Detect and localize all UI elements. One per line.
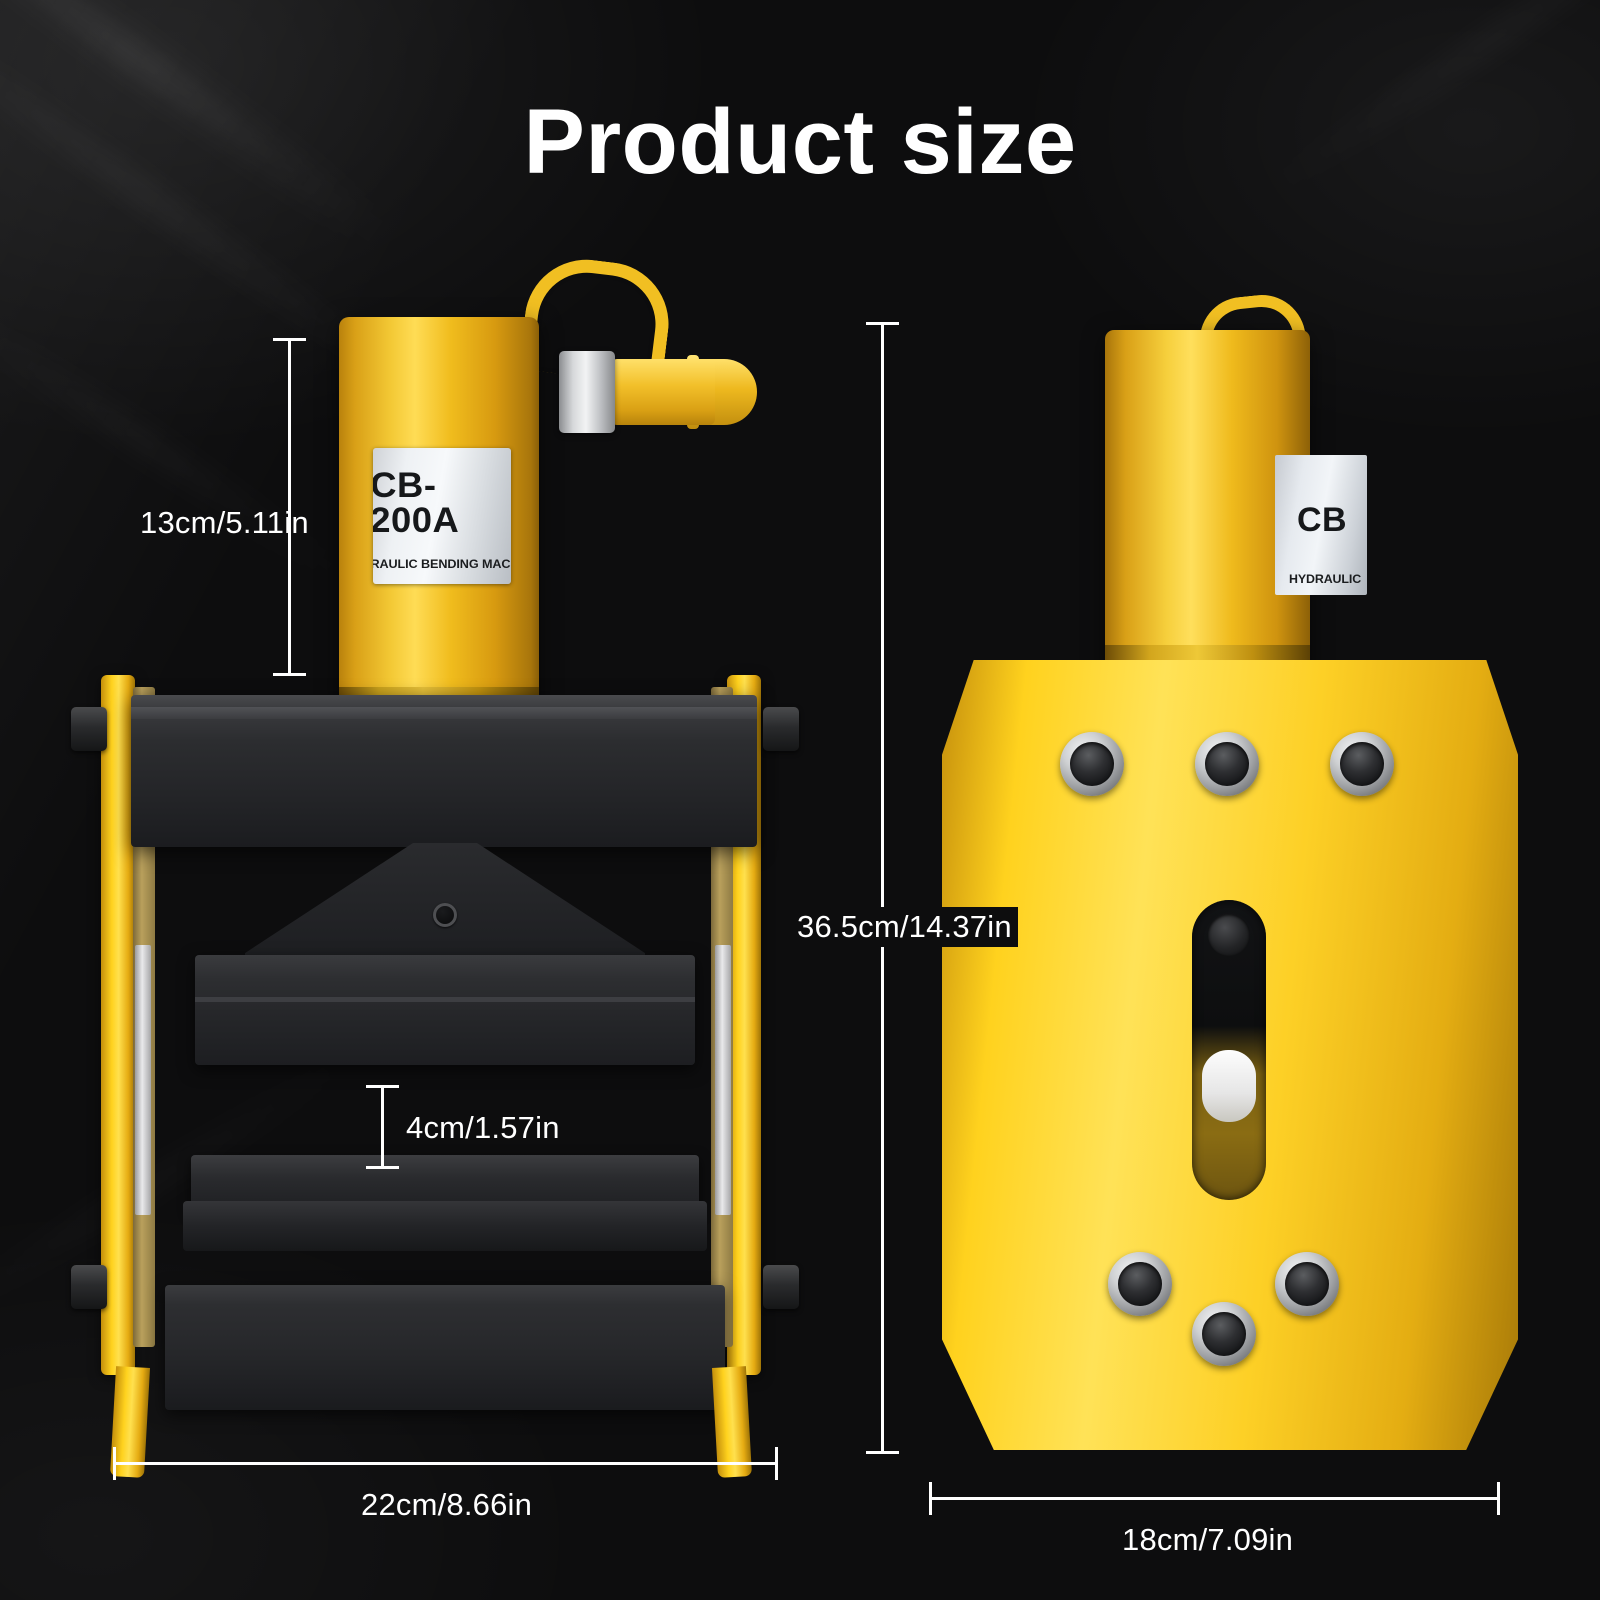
- dimension-label-overall-depth: 18cm/7.09in: [1122, 1522, 1293, 1558]
- dimension-line-jaw-opening: [381, 1085, 384, 1169]
- lower-anvil-lower: [183, 1201, 707, 1251]
- dimension-line-overall-width: [113, 1462, 778, 1465]
- dimension-label-cylinder-height: 13cm/5.11in: [140, 505, 309, 541]
- label-model-text: CB-200A: [373, 468, 511, 538]
- side-pin-bottom-right: [763, 1265, 799, 1309]
- hex-bolt-icon: [1192, 1302, 1256, 1366]
- page-title: Product size: [0, 96, 1600, 188]
- label-description-text: HYDRAULIC BENDING MACHINE: [373, 558, 511, 570]
- guide-strip-left: [135, 945, 151, 1215]
- product-size-infographic: Product size CB-200A HYDRAULIC BENDING M…: [0, 0, 1600, 1600]
- bottom-cross-bar: [165, 1285, 725, 1410]
- slot-indicator: [1202, 1050, 1256, 1122]
- side-pin-top-left: [71, 707, 107, 751]
- dimension-label-jaw-opening: 4cm/1.57in: [406, 1110, 560, 1146]
- side-product-label: CB HYDRAULIC: [1275, 455, 1367, 595]
- product-label: CB-200A HYDRAULIC BENDING MACHINE: [373, 448, 511, 584]
- side-pin-top-right: [763, 707, 799, 751]
- dimension-line-overall-height: [881, 322, 884, 1454]
- side-label-model-text: CB: [1297, 503, 1347, 537]
- hex-bolt-icon: [1060, 732, 1124, 796]
- dust-cap-body: [611, 359, 715, 425]
- hex-bolt-icon: [1275, 1252, 1339, 1316]
- guide-strip-right: [715, 945, 731, 1215]
- front-view: CB-200A HYDRAULIC BENDING MACHINE: [75, 255, 795, 1455]
- side-label-description-text: HYDRAULIC: [1289, 573, 1361, 585]
- dimension-label-overall-width: 22cm/8.66in: [361, 1487, 532, 1523]
- hex-bolt-icon: [1108, 1252, 1172, 1316]
- upper-die-block: [195, 955, 695, 1065]
- hex-nut-icon: [559, 351, 615, 433]
- dimension-line-overall-depth: [929, 1497, 1500, 1500]
- side-view: CB HYDRAULIC: [930, 290, 1530, 1470]
- hex-bolt-icon: [1330, 732, 1394, 796]
- top-cross-bar-face: [131, 707, 757, 719]
- dimension-label-overall-height: 36.5cm/14.37in: [791, 907, 1018, 947]
- upper-die-groove: [195, 997, 695, 1002]
- slot-bolt-icon: [1208, 914, 1250, 956]
- ram-set-screw-icon: [433, 903, 457, 927]
- side-pin-bottom-left: [71, 1265, 107, 1309]
- hex-bolt-icon: [1195, 732, 1259, 796]
